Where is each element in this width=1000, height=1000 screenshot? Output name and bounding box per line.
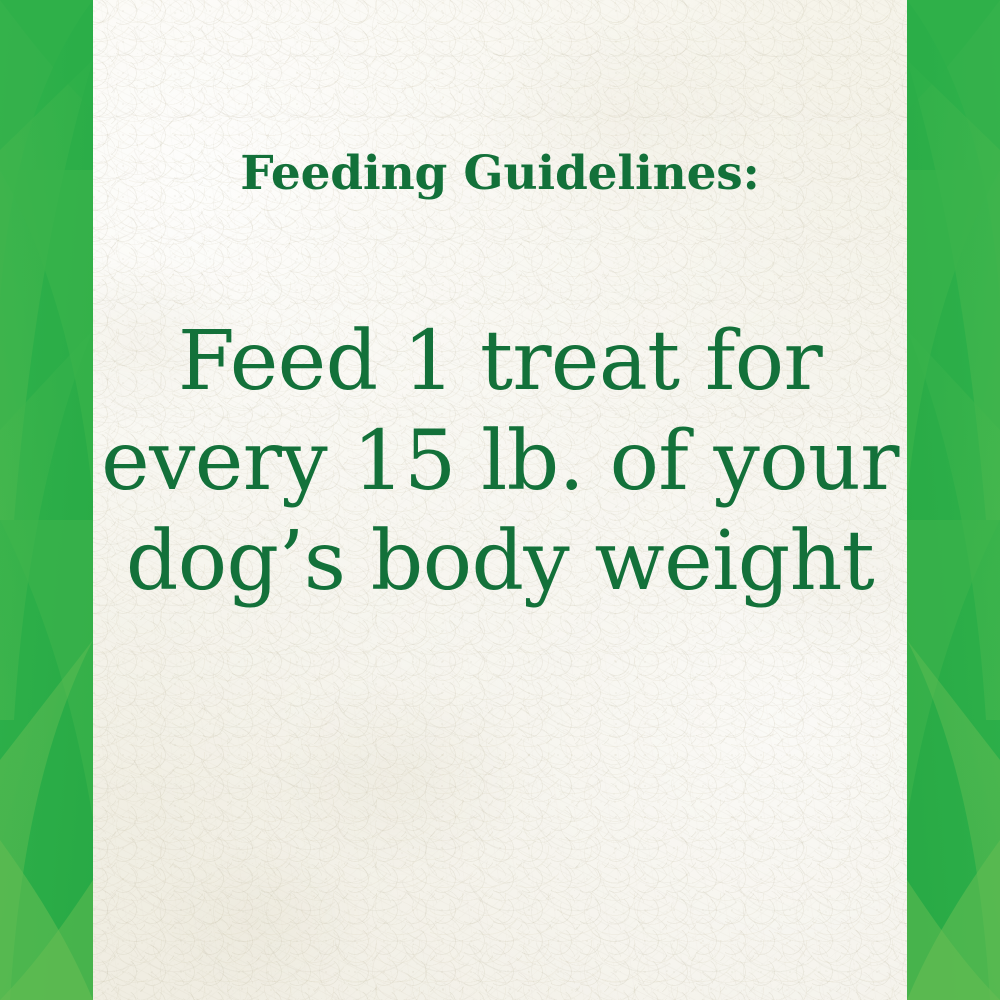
instruction-line-2: every 15 lb. of your (93, 412, 907, 512)
leaf-pattern-band-right (907, 0, 1000, 1000)
instruction-line-3: dog’s body weight (93, 512, 907, 612)
instruction-line-1: Feed 1 treat for (93, 312, 907, 412)
leaf-pattern-band-left (0, 0, 93, 1000)
panel-content: Feeding Guidelines: Feed 1 treat for eve… (93, 0, 907, 1000)
feeding-guidelines-heading: Feeding Guidelines: (93, 148, 907, 201)
feeding-instruction-text: Feed 1 treat for every 15 lb. of your do… (93, 312, 907, 612)
feeding-guidelines-panel: Feeding Guidelines: Feed 1 treat for eve… (0, 0, 1000, 1000)
